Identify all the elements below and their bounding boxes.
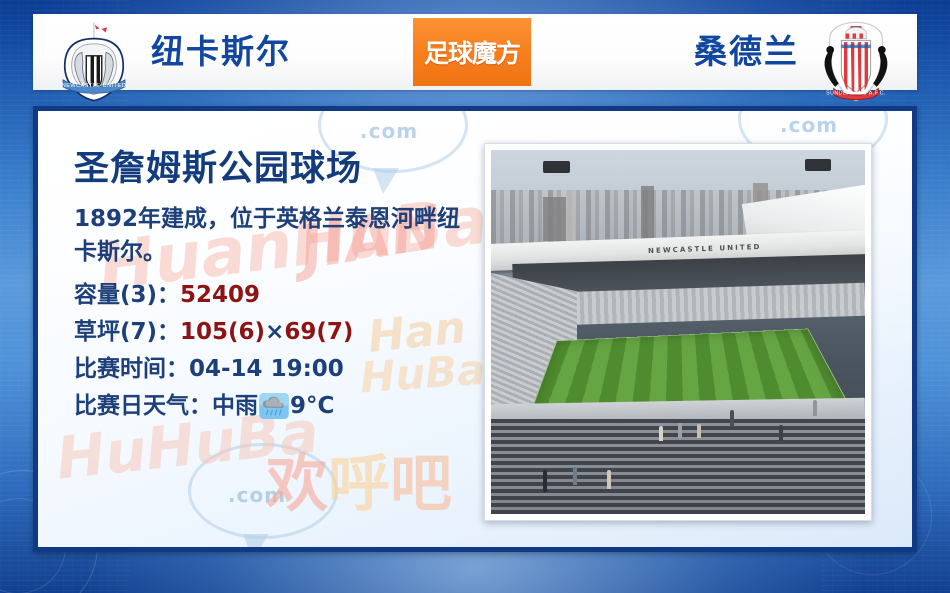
capacity-label: 容量(3)： (74, 282, 180, 308)
pitch-size-row: 草坪(7)：105(6)×69(7) (74, 314, 494, 351)
photo-building (641, 186, 654, 241)
photo-spectator (678, 423, 682, 438)
watermark-cheer-char: 欢 (266, 447, 328, 520)
stadium-info-panel: .com .com .com HuanHuBa JIAN Han HuBa Hu… (33, 106, 917, 552)
stadium-info-column: 圣詹姆斯公园球场 1892年建成，位于英格兰泰恩河畔纽卡斯尔。 容量(3)：52… (74, 149, 494, 426)
match-time-row: 比赛时间：04-14 19:00 (74, 351, 494, 388)
temperature-value: 9°C (290, 393, 334, 419)
match-time-label: 比赛时间： (74, 356, 189, 382)
photo-building (566, 190, 575, 241)
photo-spectator (607, 470, 611, 489)
watermark-cheer-char: 呼 (328, 447, 390, 520)
photo-spectator (813, 400, 817, 416)
photo-building (543, 197, 565, 241)
brand-logo-text: 足球魔方 (424, 34, 520, 70)
watermark-dotcom: .com (360, 119, 418, 143)
photo-spectator (573, 467, 577, 485)
watermark-dotcom: .com (780, 113, 838, 137)
photo-floodlight (543, 161, 569, 173)
svg-text:NEWCASTLE UNITED: NEWCASTLE UNITED (62, 83, 126, 89)
newcastle-united-crest: NEWCASTLE UNITED (51, 18, 137, 104)
stadium-description: 1892年建成，位于英格兰泰恩河畔纽卡斯尔。 (74, 203, 466, 268)
watermark-cheer-char: 吧 (390, 447, 452, 520)
watermark-dotcom: .com (228, 483, 286, 507)
pitch-size-separator: × (265, 319, 284, 345)
brand-logo[interactable]: 足球魔方 (413, 18, 531, 86)
photo-floodlight (805, 159, 831, 171)
watermark-bubble (188, 443, 338, 539)
moderate-rain-icon (259, 393, 289, 419)
pitch-width-value: 69(7) (284, 319, 353, 345)
watermark-cheer-text: 欢呼吧 (266, 433, 452, 523)
capacity-value: 52409 (180, 282, 260, 308)
sunderland-afc-crest: SUNDERLAND A.F.C. (813, 18, 899, 104)
photo-spectator (779, 425, 783, 441)
pitch-size-label: 草坪(7)： (74, 319, 180, 345)
photo-spectator (543, 470, 547, 492)
match-weather-row: 比赛日天气：中雨 9°C (74, 388, 494, 425)
home-team-name: 纽卡斯尔 (151, 14, 291, 90)
weather-label: 比赛日天气： (74, 393, 212, 419)
photo-spectator (659, 426, 663, 441)
match-header-bar: NEWCASTLE UNITED 纽卡斯尔 足球魔方 桑德兰 (33, 14, 917, 90)
svg-text:SUNDERLAND A.F.C.: SUNDERLAND A.F.C. (826, 91, 886, 97)
pitch-length-value: 105(6) (180, 319, 265, 345)
stadium-info-card: NEWCASTLE UNITED 纽卡斯尔 足球魔方 桑德兰 (0, 0, 950, 593)
stadium-title: 圣詹姆斯公园球场 (74, 149, 494, 189)
away-team-name: 桑德兰 (694, 14, 799, 90)
stadium-photo: NEWCASTLE UNITED (491, 150, 865, 514)
match-time-value: 04-14 19:00 (189, 356, 344, 382)
capacity-row: 容量(3)：52409 (74, 277, 494, 314)
stadium-photo-frame: NEWCASTLE UNITED (484, 143, 872, 521)
weather-value: 中雨 (212, 393, 258, 419)
photo-spectator (730, 410, 734, 427)
photo-spectator (697, 424, 701, 438)
